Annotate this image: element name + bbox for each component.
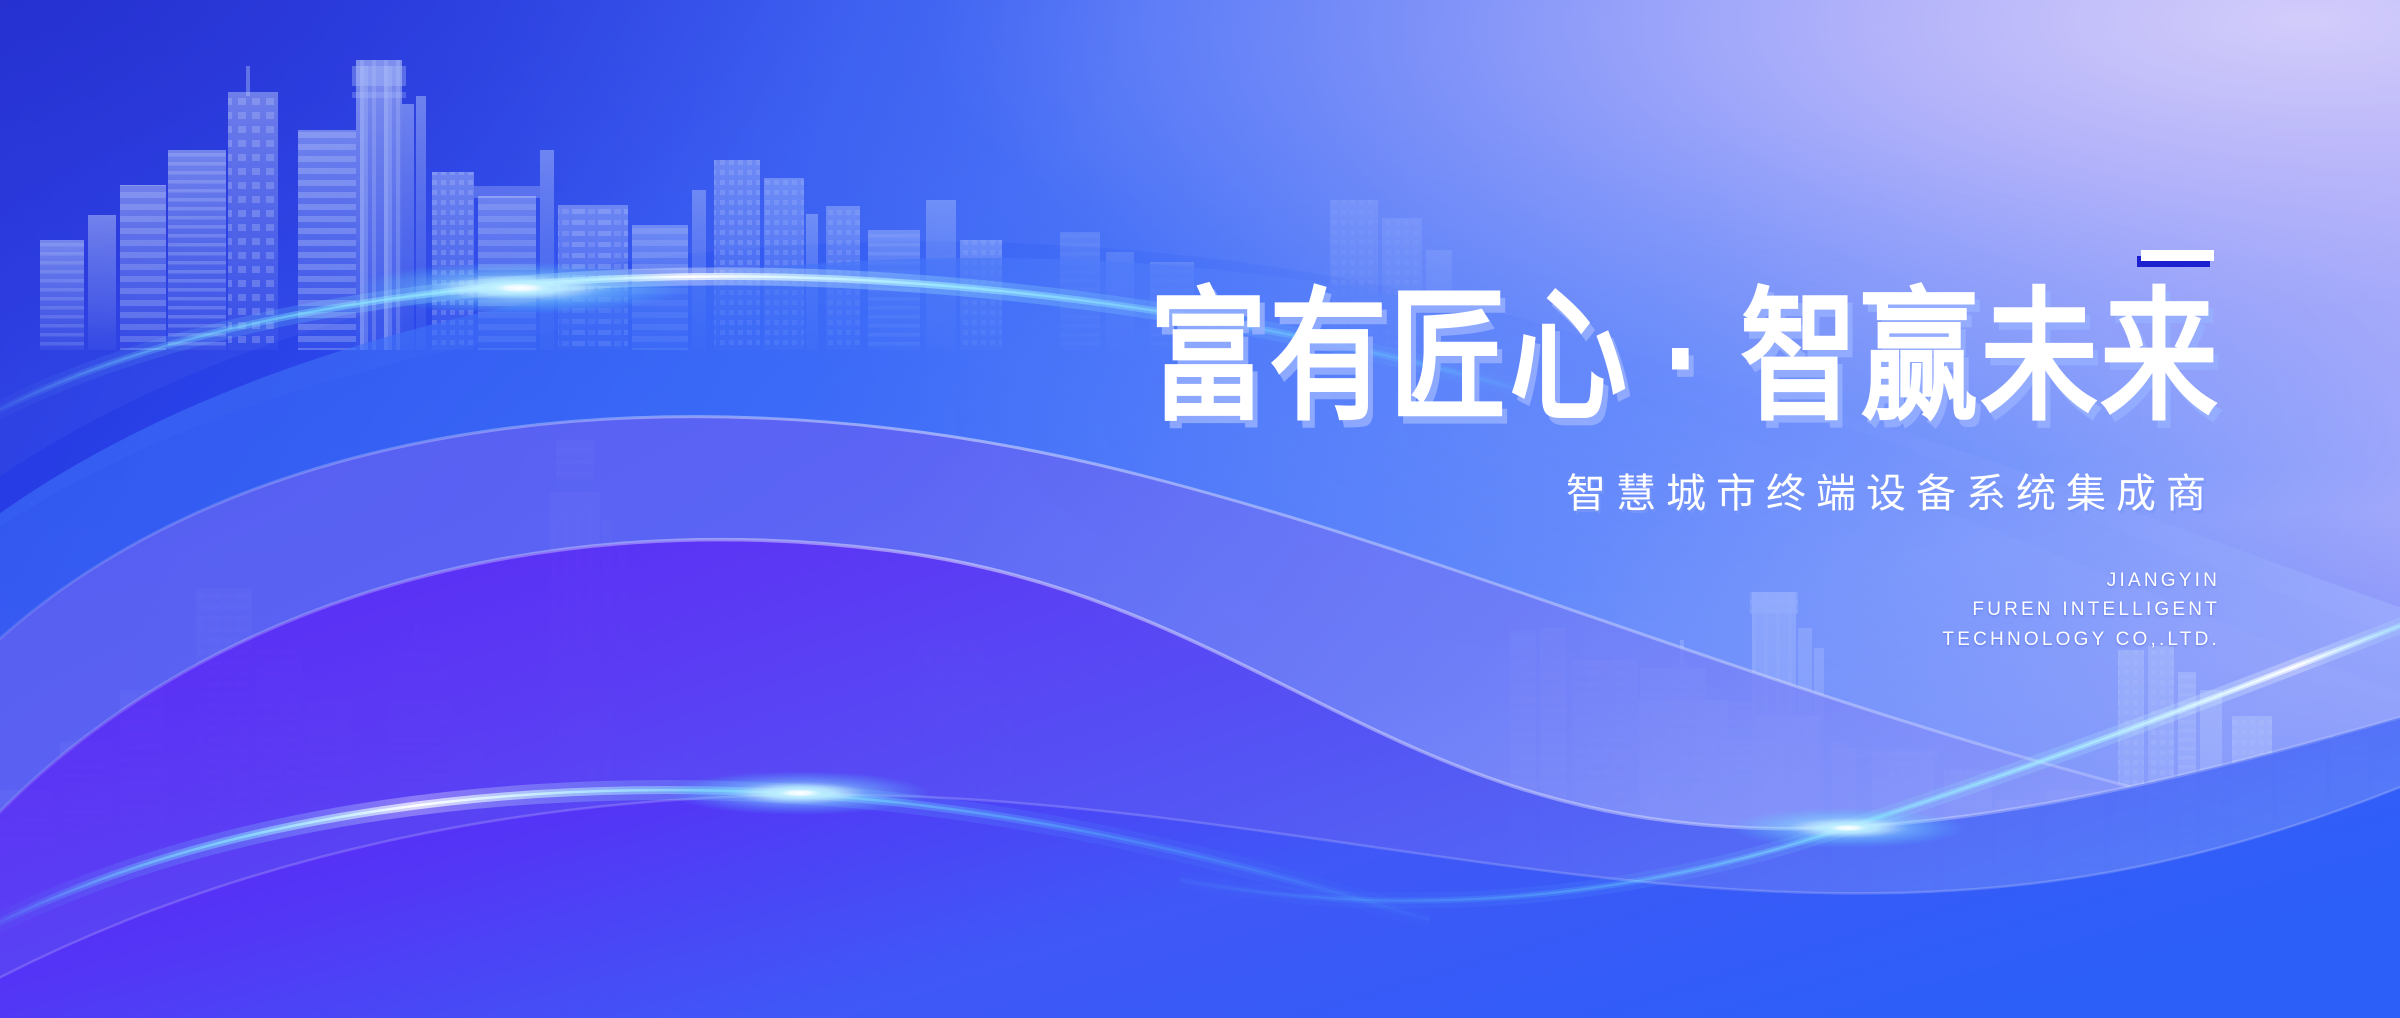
- company-name-block: JIANGYIN FUREN INTELLIGENT TECHNOLOGY CO…: [1040, 566, 2220, 654]
- banner-root: 富有匠心 · 智赢未来 智慧城市终端设备系统集成商 JIANGYIN FUREN…: [0, 0, 2400, 1018]
- page-subtitle: 智慧城市终端设备系统集成商: [1040, 474, 2216, 514]
- page-title: 富有匠心 · 智赢未来: [1040, 286, 2220, 430]
- company-line-2: FUREN INTELLIGENT: [1040, 595, 2220, 624]
- company-line-3: TECHNOLOGY CO,.LTD.: [1040, 625, 2220, 654]
- company-line-1: JIANGYIN: [1040, 566, 2220, 595]
- accent-rule-icon: [2141, 250, 2214, 261]
- headline-block: 富有匠心 · 智赢未来 智慧城市终端设备系统集成商 JIANGYIN FUREN…: [1040, 250, 2220, 654]
